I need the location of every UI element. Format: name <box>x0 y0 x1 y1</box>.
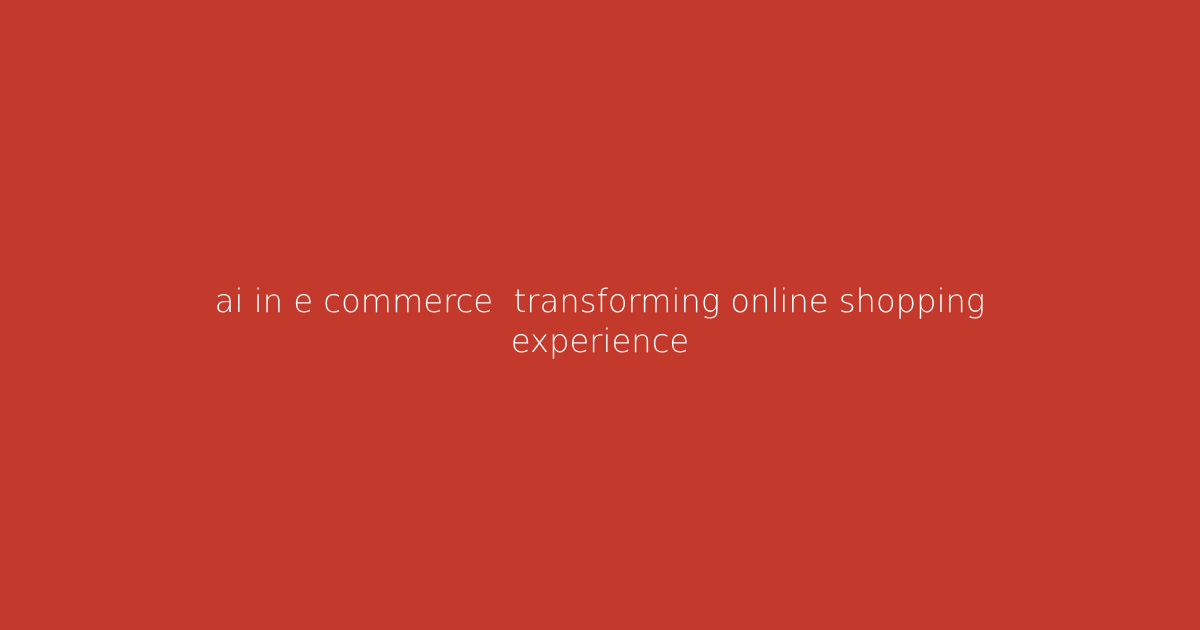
page-title: ai in e commerce transforming online sho… <box>130 281 1070 361</box>
og-image-card: ai in e commerce transforming online sho… <box>0 0 1200 630</box>
